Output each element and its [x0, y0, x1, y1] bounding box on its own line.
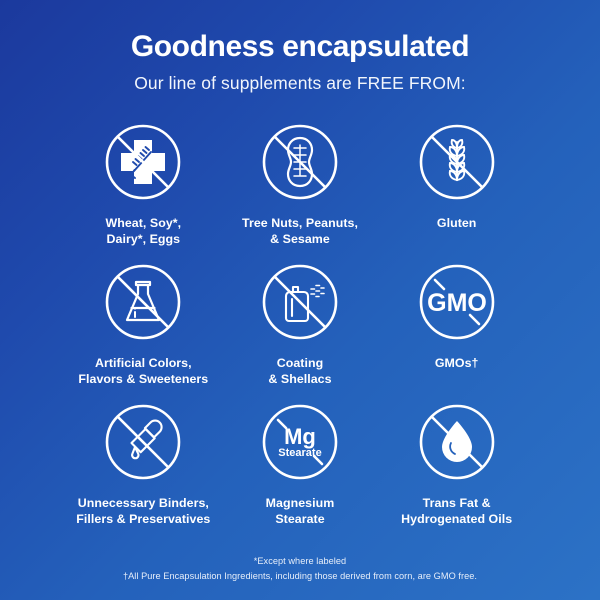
page-subtitle: Our line of supplements are FREE FROM:	[134, 73, 466, 94]
droplet-icon	[413, 398, 501, 486]
gmo-icon-text: GMO	[427, 289, 487, 317]
grid-item-label: Coating & Shellacs	[268, 355, 331, 388]
grid-item-gmos: GMO GMOs†	[378, 258, 535, 398]
grid-item-tree-nuts-peanuts-sesame: Tree Nuts, Peanuts, & Sesame	[222, 118, 379, 258]
grid-item-label: Trans Fat & Hydrogenated Oils	[401, 495, 512, 528]
grid-item-wheat-soy-dairy-eggs: Wheat, Soy*, Dairy*, Eggs	[65, 118, 222, 258]
page-title: Goodness encapsulated	[131, 30, 469, 63]
footnote-gmo-free: †All Pure Encapsulation Ingredients, inc…	[0, 569, 600, 584]
grid-item-label: Tree Nuts, Peanuts, & Sesame	[242, 215, 358, 248]
grid-item-trans-fat: Trans Fat & Hydrogenated Oils	[378, 398, 535, 538]
grid-item-label: Artificial Colors, Flavors & Sweeteners	[78, 355, 208, 388]
wheat-cross-icon	[99, 118, 187, 206]
gmo-text-icon: GMO	[413, 258, 501, 346]
footnotes: *Except where labeled †All Pure Encapsul…	[0, 554, 600, 584]
mg-icon-text: Mg	[284, 424, 316, 449]
grid-item-gluten: Gluten	[378, 118, 535, 258]
grid-item-unnecessary-binders: Unnecessary Binders, Fillers & Preservat…	[65, 398, 222, 538]
grid-item-artificial-colors: Artificial Colors, Flavors & Sweeteners	[65, 258, 222, 398]
flask-icon	[99, 258, 187, 346]
wheat-stalk-icon	[413, 118, 501, 206]
grid-item-label: Unnecessary Binders, Fillers & Preservat…	[76, 495, 210, 528]
grid-item-coating-shellacs: Coating & Shellacs	[222, 258, 379, 398]
dropper-icon	[99, 398, 187, 486]
free-from-grid: Wheat, Soy*, Dairy*, Eggs	[65, 118, 535, 538]
grid-item-label: Wheat, Soy*, Dairy*, Eggs	[106, 215, 182, 248]
peanut-icon	[256, 118, 344, 206]
spray-can-icon	[256, 258, 344, 346]
poster-root: Goodness encapsulated Our line of supple…	[0, 0, 600, 600]
grid-item-label: Magnesium Stearate	[266, 495, 335, 528]
footnote-except-where-labeled: *Except where labeled	[0, 554, 600, 569]
mg-stearate-text-icon: Mg Stearate	[256, 398, 344, 486]
grid-item-label: GMOs†	[435, 355, 479, 371]
grid-item-label: Gluten	[437, 215, 477, 231]
grid-item-magnesium-stearate: Mg Stearate Magnesium Stearate	[222, 398, 379, 538]
